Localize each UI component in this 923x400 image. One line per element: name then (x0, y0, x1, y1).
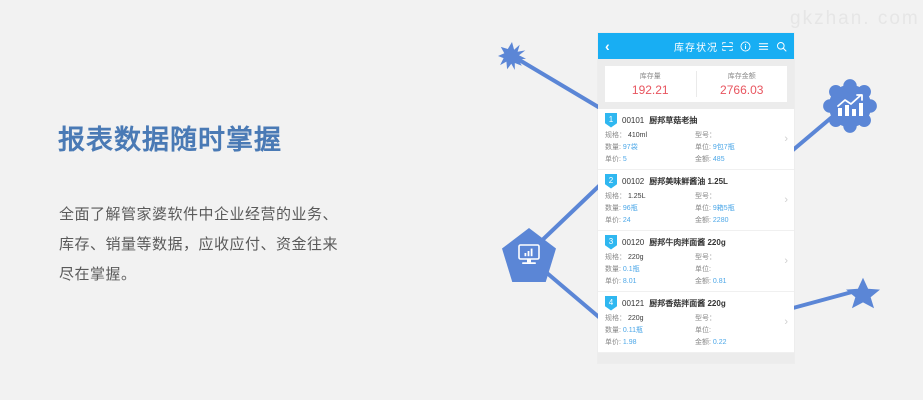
item-field-label: 金额: (695, 156, 711, 163)
item-field-value: 96瓶 (623, 205, 638, 212)
item-field-label: 金额: (695, 217, 711, 224)
item-field: 规格： 410ml (605, 130, 695, 140)
item-field-label: 单位: (695, 205, 711, 212)
item-field-label: 单价: (605, 278, 621, 285)
row-header: 400121厨邦香菇拌面酱 220g (605, 296, 786, 310)
item-field-value: 24 (623, 217, 631, 224)
monitor-chart-icon (516, 243, 542, 267)
item-code: 00102 (622, 177, 644, 186)
info-icon[interactable] (740, 41, 751, 52)
item-field-value: 9箱5瓶 (713, 205, 735, 212)
item-field: 单位: (695, 264, 786, 274)
app-header: ‹ 库存状况 (598, 33, 794, 59)
item-field: 数量: 97袋 (605, 142, 695, 152)
item-name: 厨邦牛肉拌面酱 220g (649, 237, 725, 248)
item-field: 单位: (695, 325, 786, 335)
summary-label: 库存量 (640, 71, 661, 81)
row-header: 100101厨邦草菇老抽 (605, 113, 786, 127)
row-header: 300120厨邦牛肉拌面酱 220g (605, 235, 786, 249)
list-bottom-space (598, 353, 794, 363)
item-code: 00101 (622, 116, 644, 125)
item-field-value: 9包7瓶 (713, 144, 735, 151)
item-field: 单价: 5 (605, 154, 695, 164)
summary-value: 192.21 (632, 83, 669, 97)
item-field-label: 单位: (695, 144, 711, 151)
item-field-value: 0.81 (713, 278, 727, 285)
item-field-value: 220g (628, 254, 644, 261)
item-field-label: 数量: (605, 205, 621, 212)
list-icon[interactable] (758, 41, 769, 52)
summary-cell-quantity: 库存量 192.21 (605, 71, 696, 97)
item-field: 数量: 0.11瓶 (605, 325, 695, 335)
item-field-label: 单位: (695, 266, 711, 273)
item-name: 厨邦草菇老抽 (649, 115, 697, 126)
item-field-value: 8.01 (623, 278, 637, 285)
item-field-label: 数量: (605, 144, 621, 151)
item-field: 规格： 220g (605, 252, 695, 262)
item-fields: 规格： 410ml型号： 数量: 97袋单位: 9包7瓶单价: 5金额: 485 (605, 130, 786, 164)
item-field-label: 金额: (695, 339, 711, 346)
item-field-value: 485 (713, 156, 725, 163)
item-code: 00121 (622, 299, 644, 308)
item-name: 厨邦美味鲜酱油 1.25L (649, 176, 728, 187)
item-field-value: 5 (623, 156, 627, 163)
starburst-icon (498, 42, 526, 70)
item-field: 数量: 96瓶 (605, 203, 695, 213)
item-field: 型号： (695, 130, 786, 140)
promo-banner: gkzhan. com 报表数据随时掌握 全面了解管家婆软件中企业经营的业务、 … (0, 0, 923, 400)
item-field-value: 220g (628, 315, 644, 322)
item-field-label: 数量: (605, 266, 621, 273)
item-field: 单价: 24 (605, 215, 695, 225)
row-header: 200102厨邦美味鲜酱油 1.25L (605, 174, 786, 188)
item-field-label: 规格： (605, 132, 626, 139)
table-row[interactable]: 400121厨邦香菇拌面酱 220g规格： 220g型号： 数量: 0.11瓶单… (598, 292, 794, 353)
item-field-value: 97袋 (623, 144, 638, 151)
back-icon[interactable]: ‹ (605, 39, 610, 53)
row-chevron-icon[interactable]: › (784, 256, 788, 267)
summary-label: 库存金额 (728, 71, 756, 81)
row-index-badge: 3 (605, 235, 617, 250)
item-field: 规格： 1.25L (605, 191, 695, 201)
item-field-label: 单价: (605, 217, 621, 224)
item-field: 数量: 0.1瓶 (605, 264, 695, 274)
app-header-actions (722, 41, 787, 52)
phone-mockup: ‹ 库存状况 (598, 33, 794, 363)
row-chevron-icon[interactable]: › (784, 134, 788, 145)
item-field-value: 1.98 (623, 339, 637, 346)
star-icon (846, 276, 880, 310)
item-field: 单位: 9箱5瓶 (695, 203, 786, 213)
item-field: 型号： (695, 191, 786, 201)
row-index-badge: 1 (605, 113, 617, 128)
item-field: 金额: 2280 (695, 215, 786, 225)
item-field-value: 1.25L (628, 193, 646, 200)
item-field-value: 0.11瓶 (623, 327, 643, 334)
item-field-label: 规格： (605, 193, 626, 200)
item-field-label: 单价: (605, 339, 621, 346)
scan-icon[interactable] (722, 41, 733, 52)
item-field: 型号： (695, 252, 786, 262)
item-field-label: 金额: (695, 278, 711, 285)
item-field-label: 单价: (605, 156, 621, 163)
item-field-label: 规格： (605, 315, 626, 322)
item-field: 单位: 9包7瓶 (695, 142, 786, 152)
table-row[interactable]: 100101厨邦草菇老抽规格： 410ml型号： 数量: 97袋单位: 9包7瓶… (598, 109, 794, 170)
item-name: 厨邦香菇拌面酱 220g (649, 298, 725, 309)
item-field-value: 2280 (713, 217, 729, 224)
item-field-label: 型号： (695, 315, 716, 322)
item-field-label: 型号： (695, 254, 716, 261)
item-field-label: 型号： (695, 193, 716, 200)
item-field: 单价: 8.01 (605, 276, 695, 286)
item-field-label: 型号： (695, 132, 716, 139)
item-field-value: 0.22 (713, 339, 727, 346)
row-index-badge: 2 (605, 174, 617, 189)
row-index-badge: 4 (605, 296, 617, 311)
item-field: 金额: 485 (695, 154, 786, 164)
item-field-label: 单位: (695, 327, 711, 334)
item-field: 金额: 0.22 (695, 337, 786, 347)
item-field: 规格： 220g (605, 313, 695, 323)
item-field-value: 410ml (628, 132, 647, 139)
row-chevron-icon[interactable]: › (784, 317, 788, 328)
table-row[interactable]: 200102厨邦美味鲜酱油 1.25L规格： 1.25L型号： 数量: 96瓶单… (598, 170, 794, 231)
bar-chart-badge (822, 78, 878, 134)
table-row[interactable]: 300120厨邦牛肉拌面酱 220g规格： 220g型号： 数量: 0.1瓶单位… (598, 231, 794, 292)
item-fields: 规格： 220g型号： 数量: 0.1瓶单位: 单价: 8.01金额: 0.81 (605, 252, 786, 286)
item-field-label: 规格： (605, 254, 626, 261)
item-field: 单价: 1.98 (605, 337, 695, 347)
summary-panel: 库存量 192.21 库存金额 2766.03 (605, 66, 787, 102)
summary-cell-amount: 库存金额 2766.03 (696, 71, 788, 97)
item-field: 金额: 0.81 (695, 276, 786, 286)
bar-chart-trend-icon (835, 93, 865, 119)
item-field-value: 0.1瓶 (623, 266, 640, 273)
item-field: 型号： (695, 313, 786, 323)
item-field-label: 数量: (605, 327, 621, 334)
inventory-list: 100101厨邦草菇老抽规格： 410ml型号： 数量: 97袋单位: 9包7瓶… (598, 109, 794, 353)
summary-value: 2766.03 (720, 83, 763, 97)
item-fields: 规格： 220g型号： 数量: 0.11瓶单位: 单价: 1.98金额: 0.2… (605, 313, 786, 347)
row-chevron-icon[interactable]: › (784, 195, 788, 206)
item-code: 00120 (622, 238, 644, 247)
search-icon[interactable] (776, 41, 787, 52)
item-fields: 规格： 1.25L型号： 数量: 96瓶单位: 9箱5瓶单价: 24金额: 22… (605, 191, 786, 225)
